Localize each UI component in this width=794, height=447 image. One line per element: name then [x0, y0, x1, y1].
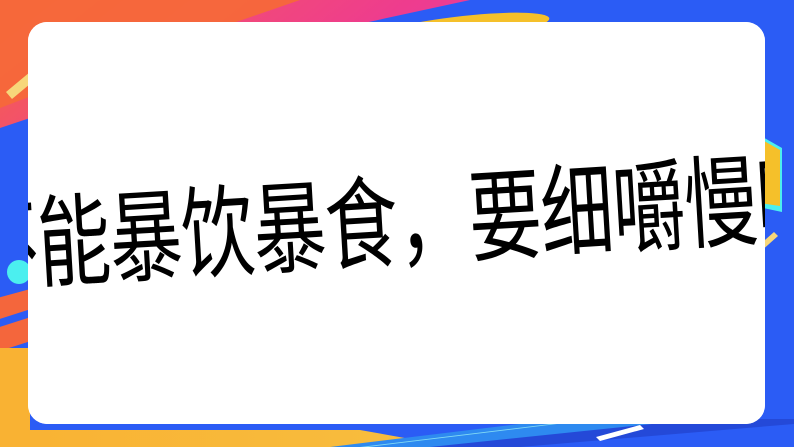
- bottom-amber-left-column: [0, 348, 30, 447]
- headline-container: 不能暴饮暴食，要细嚼慢咽: [28, 22, 765, 424]
- page-title: 不能暴饮暴食，要细嚼慢咽: [28, 147, 765, 303]
- white-content-card: 不能暴饮暴食，要细嚼慢咽: [28, 22, 765, 424]
- slide-canvas: 不能暴饮暴食，要细嚼慢咽: [0, 0, 794, 447]
